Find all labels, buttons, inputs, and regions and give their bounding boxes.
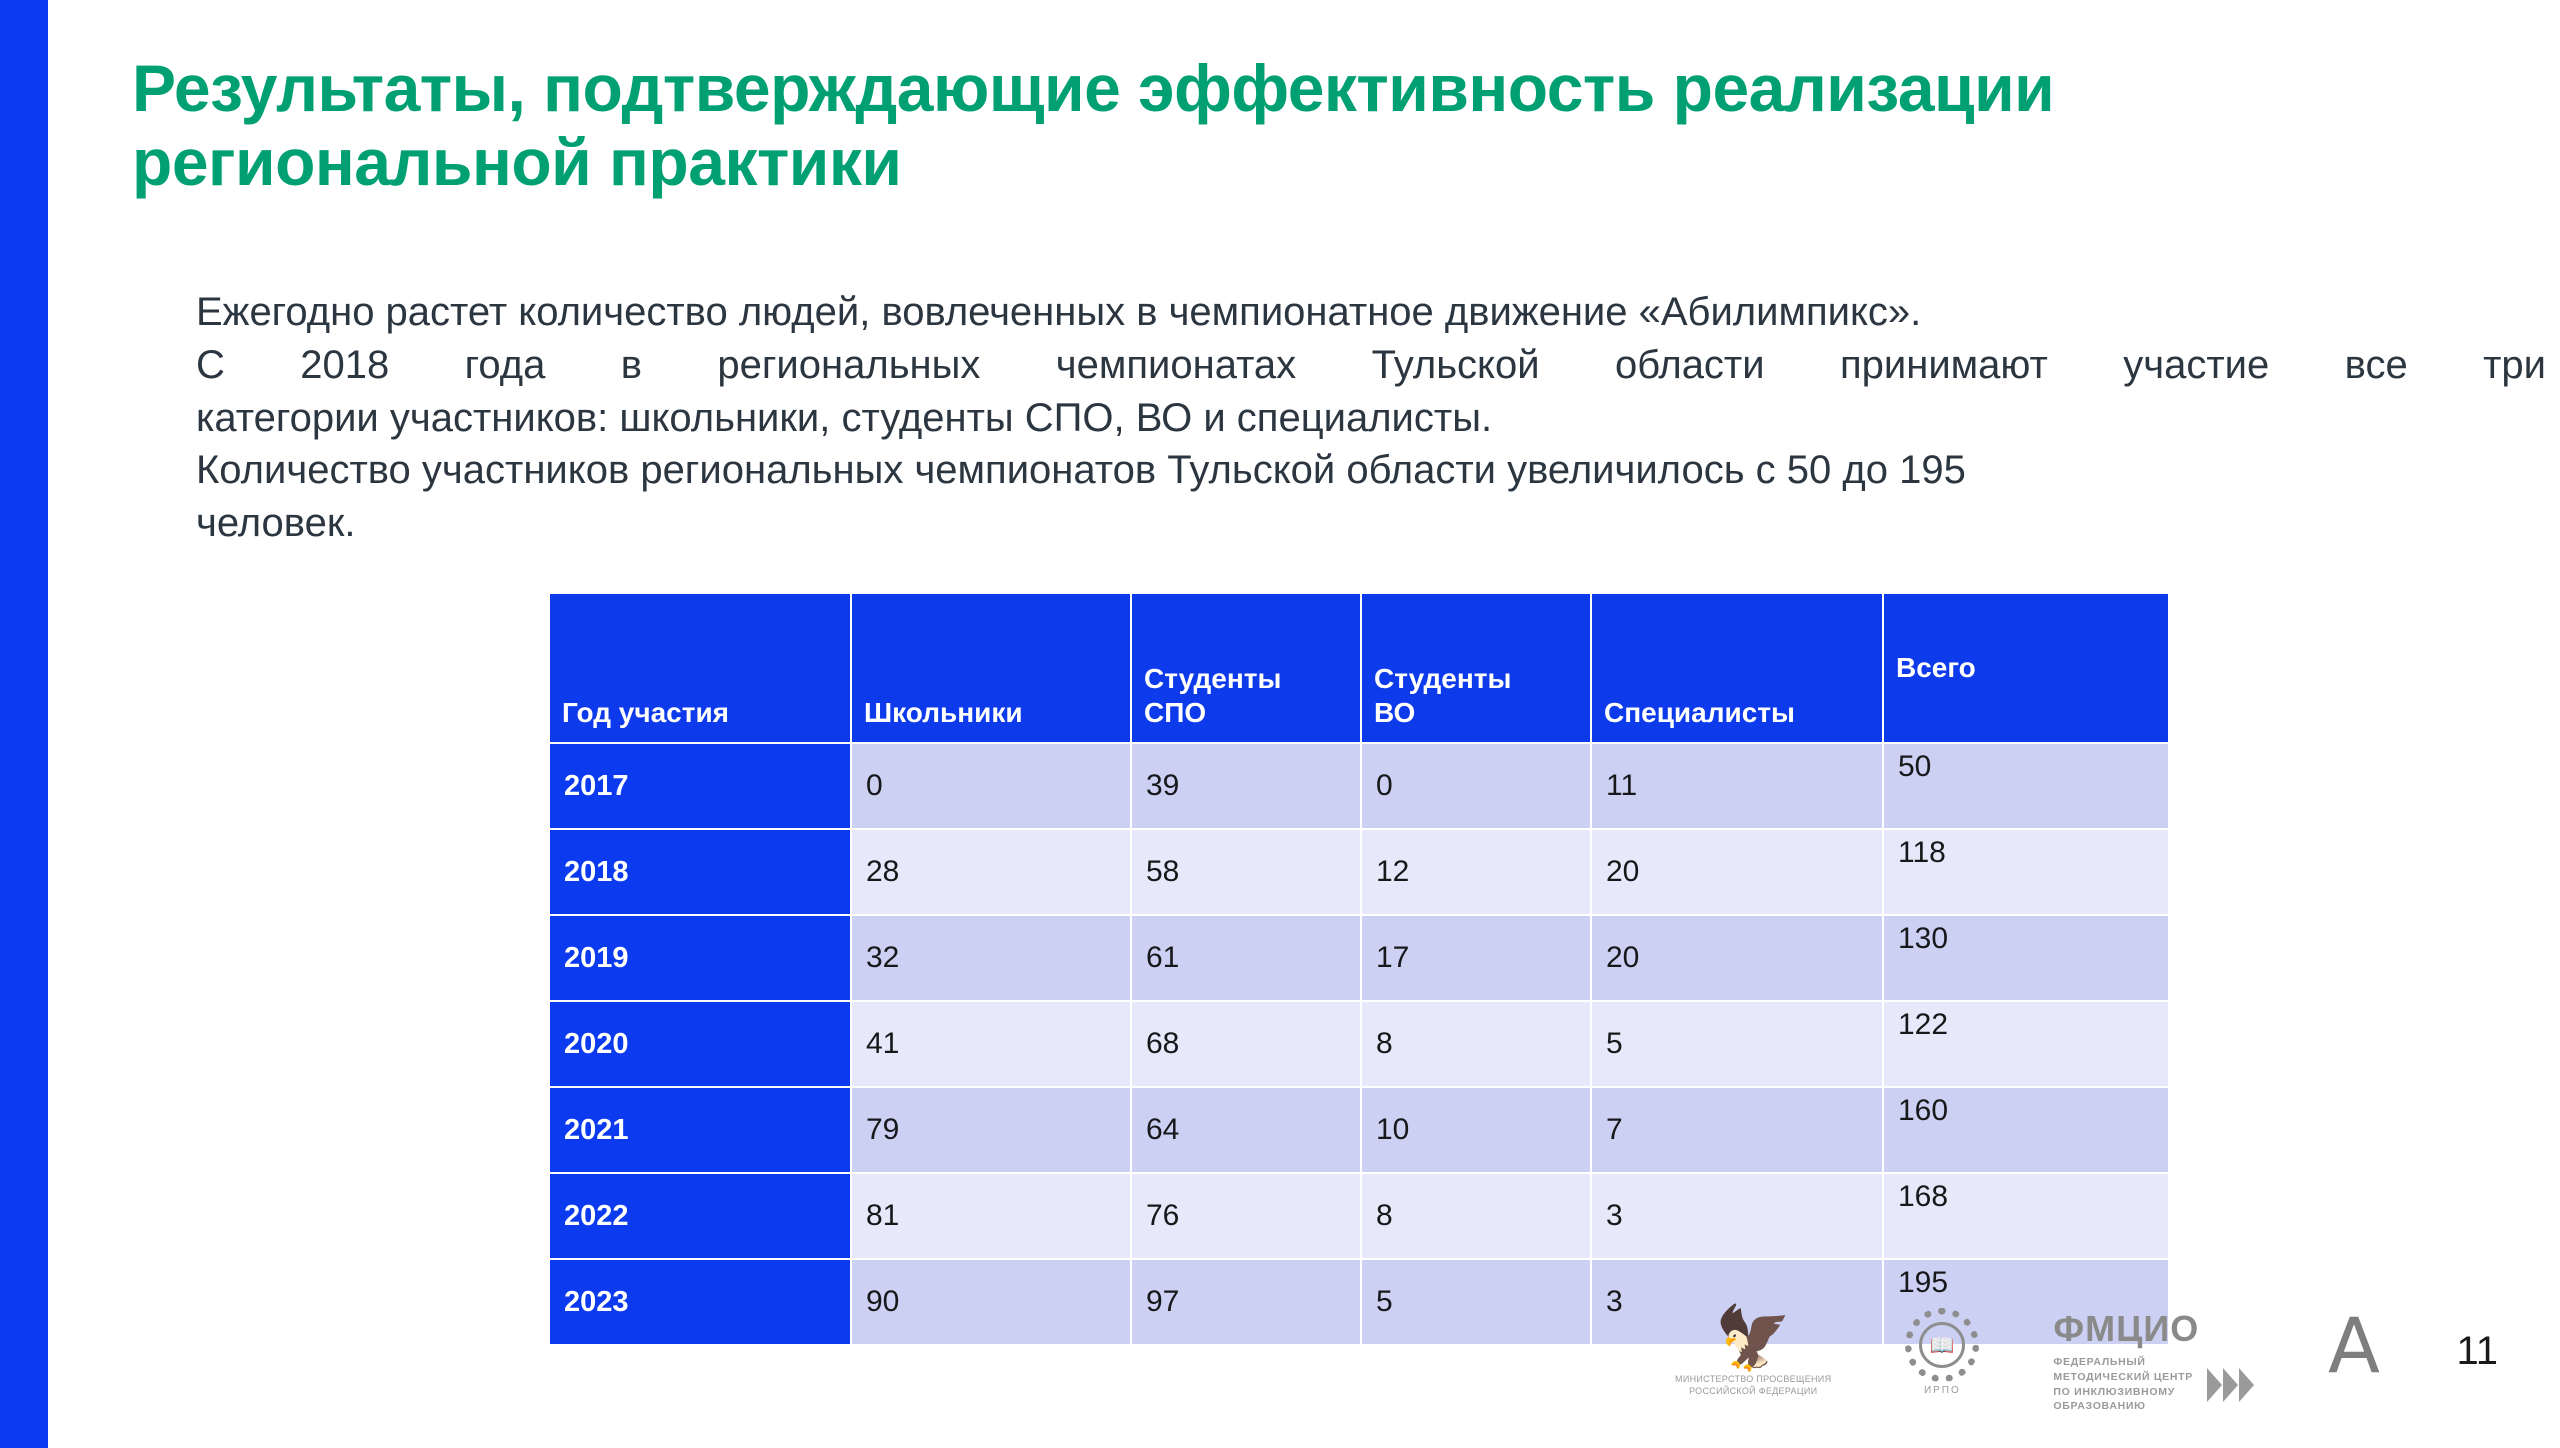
table-row: 2018 28 58 12 20 118	[550, 830, 2168, 914]
cell-spo: 64	[1132, 1088, 1360, 1172]
column-header-year: Год участия	[550, 594, 850, 742]
column-header-spo: Студенты СПО	[1132, 594, 1360, 742]
column-header-vo-line2: ВО	[1374, 697, 1415, 728]
cell-year: 2021	[550, 1088, 850, 1172]
intro-paragraph: Ежегодно растет количество людей, вовлеч…	[196, 286, 2546, 550]
cell-vo: 8	[1362, 1002, 1590, 1086]
cell-year: 2017	[550, 744, 850, 828]
column-header-school: Школьники	[852, 594, 1130, 742]
cell-spo: 61	[1132, 916, 1360, 1000]
table-header-row: Год участия Школьники Студенты СПО Студе…	[550, 594, 2168, 742]
cell-total: 168	[1884, 1174, 2168, 1258]
cell-total: 50	[1884, 744, 2168, 828]
table-row: 2017 0 39 0 11 50	[550, 744, 2168, 828]
column-header-spo-line1: Студенты	[1144, 663, 1281, 694]
participants-table: Год участия Школьники Студенты СПО Студе…	[548, 592, 2170, 1346]
cell-total: 130	[1884, 916, 2168, 1000]
cell-specialists: 5	[1592, 1002, 1882, 1086]
cell-school: 79	[852, 1088, 1130, 1172]
column-header-vo-line1: Студенты	[1374, 663, 1511, 694]
ministry-logo: 🦅 МИНИСТЕРСТВО ПРОСВЕЩЕНИЯ РОССИЙСКОЙ ФЕ…	[1675, 1308, 1831, 1397]
cell-vo: 0	[1362, 744, 1590, 828]
table-row: 2020 41 68 8 5 122	[550, 1002, 2168, 1086]
irpo-logo-caption: ИРПО	[1924, 1385, 1961, 1396]
paragraph-line-1: Ежегодно растет количество людей, вовлеч…	[196, 286, 2546, 339]
cell-spo: 39	[1132, 744, 1360, 828]
abilympics-a-icon: A	[2328, 1308, 2380, 1384]
column-header-vo: Студенты ВО	[1362, 594, 1590, 742]
cell-specialists: 20	[1592, 830, 1882, 914]
cell-year: 2018	[550, 830, 850, 914]
paragraph-line-4: Количество участников региональных чемпи…	[196, 444, 2546, 497]
cell-year: 2019	[550, 916, 850, 1000]
cell-vo: 8	[1362, 1174, 1590, 1258]
paragraph-line-3: категории участников: школьники, студент…	[196, 392, 2546, 445]
fmcio-subtitle: ФЕДЕРАЛЬНЫЙ МЕТОДИЧЕСКИЙ ЦЕНТР ПО ИНКЛЮЗ…	[2053, 1355, 2193, 1414]
irpo-logo: 📖 ИРПО	[1905, 1308, 1979, 1396]
open-book-icon: 📖	[1919, 1322, 1965, 1368]
cell-specialists: 7	[1592, 1088, 1882, 1172]
double-headed-eagle-icon: 🦅	[1715, 1308, 1792, 1370]
cell-school: 0	[852, 744, 1130, 828]
table-row: 2022 81 76 8 3 168	[550, 1174, 2168, 1258]
chevrons-icon	[2207, 1368, 2254, 1402]
cell-vo: 10	[1362, 1088, 1590, 1172]
open-book-gear-icon: 📖	[1905, 1308, 1979, 1382]
column-header-spo-line2: СПО	[1144, 697, 1206, 728]
column-header-total: Всего	[1884, 594, 2168, 742]
column-header-specialists: Специалисты	[1592, 594, 1882, 742]
slide-canvas: Результаты, подтверждающие эффективность…	[48, 0, 2560, 1448]
fmcio-subtitle-row: ФЕДЕРАЛЬНЫЙ МЕТОДИЧЕСКИЙ ЦЕНТР ПО ИНКЛЮЗ…	[2053, 1355, 2254, 1414]
slide-footer: 🦅 МИНИСТЕРСТВО ПРОСВЕЩЕНИЯ РОССИЙСКОЙ ФЕ…	[48, 1258, 2560, 1448]
paragraph-line-5: человек.	[196, 497, 2546, 550]
cell-school: 41	[852, 1002, 1130, 1086]
page-number: 11	[2456, 1329, 2498, 1374]
cell-specialists: 3	[1592, 1174, 1882, 1258]
paragraph-line-2: С 2018 года в региональных чемпионатах Т…	[196, 339, 2546, 392]
cell-specialists: 11	[1592, 744, 1882, 828]
cell-year: 2022	[550, 1174, 850, 1258]
cell-school: 81	[852, 1174, 1130, 1258]
fmcio-logo: ФМЦИО ФЕДЕРАЛЬНЫЙ МЕТОДИЧЕСКИЙ ЦЕНТР ПО …	[2053, 1308, 2254, 1414]
cell-school: 28	[852, 830, 1130, 914]
cell-total: 160	[1884, 1088, 2168, 1172]
logo-strip: 🦅 МИНИСТЕРСТВО ПРОСВЕЩЕНИЯ РОССИЙСКОЙ ФЕ…	[1675, 1308, 2380, 1414]
cell-year: 2020	[550, 1002, 850, 1086]
cell-spo: 58	[1132, 830, 1360, 914]
abilympics-logo: A	[2328, 1308, 2380, 1384]
table-row: 2019 32 61 17 20 130	[550, 916, 2168, 1000]
cell-school: 32	[852, 916, 1130, 1000]
cell-vo: 17	[1362, 916, 1590, 1000]
cell-specialists: 20	[1592, 916, 1882, 1000]
cell-total: 122	[1884, 1002, 2168, 1086]
cell-vo: 12	[1362, 830, 1590, 914]
cell-total: 118	[1884, 830, 2168, 914]
page-title: Результаты, подтверждающие эффективность…	[132, 52, 2332, 200]
fmcio-wordmark: ФМЦИО	[2053, 1308, 2199, 1350]
table-row: 2021 79 64 10 7 160	[550, 1088, 2168, 1172]
table-body: 2017 0 39 0 11 50 2018 28 58 12 20 118 2…	[550, 744, 2168, 1344]
cell-spo: 76	[1132, 1174, 1360, 1258]
cell-spo: 68	[1132, 1002, 1360, 1086]
ministry-logo-caption: МИНИСТЕРСТВО ПРОСВЕЩЕНИЯ РОССИЙСКОЙ ФЕДЕ…	[1675, 1374, 1831, 1397]
left-accent-bar	[0, 0, 48, 1448]
